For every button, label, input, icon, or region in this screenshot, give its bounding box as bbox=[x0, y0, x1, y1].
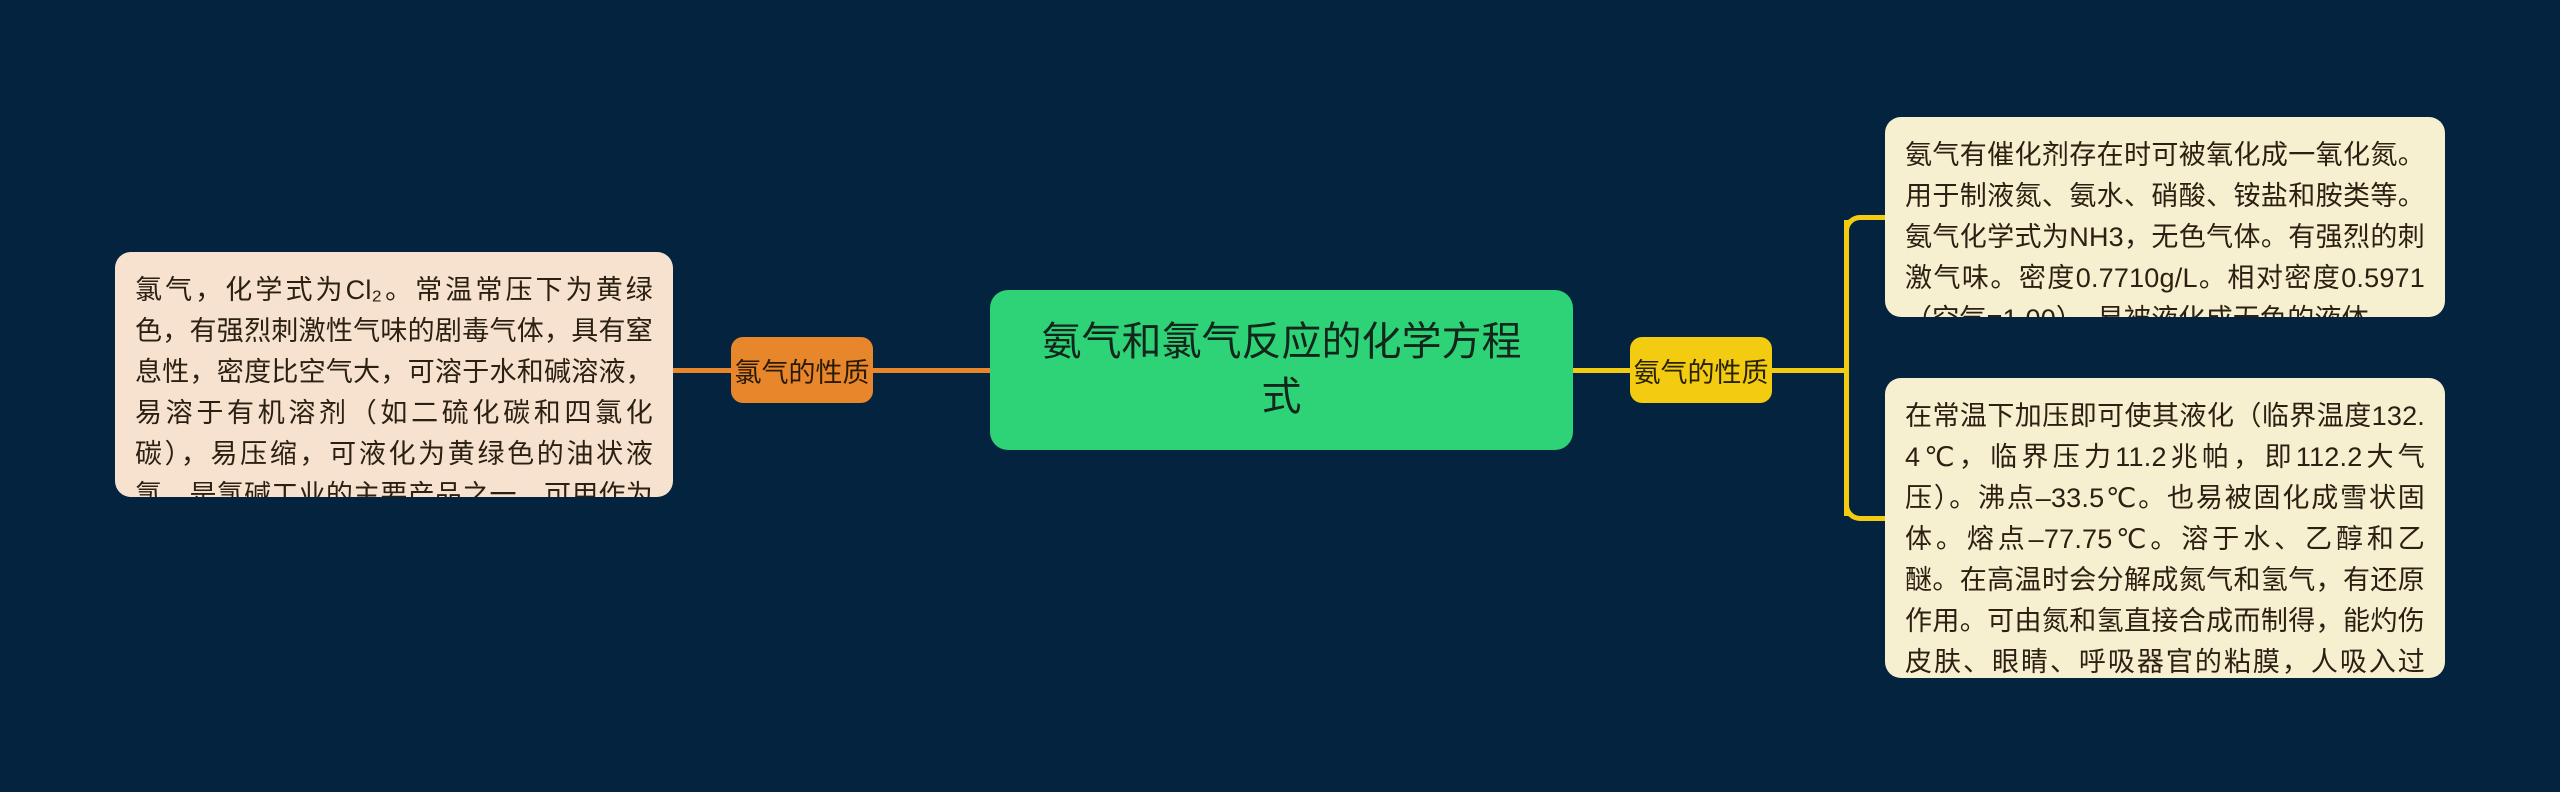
leaf-card-ammonia-physical: 在常温下加压即可使其液化（临界温度132.4℃，临界压力11.2兆帕，即112.… bbox=[1885, 378, 2445, 678]
connector-chlorine-leaf bbox=[673, 368, 731, 373]
branch-node-chlorine[interactable]: 氯气的性质 bbox=[731, 337, 873, 403]
root-node[interactable]: 氨气和氯气反应的化学方程式 bbox=[990, 290, 1573, 450]
connector-ammonia-trunk bbox=[1772, 368, 1844, 373]
branch-node-ammonia-label: 氨气的性质 bbox=[1634, 351, 1769, 390]
branch-node-ammonia[interactable]: 氨气的性质 bbox=[1630, 337, 1772, 403]
connector-ammonia-branch-trunk bbox=[1844, 215, 1886, 521]
leaf-card-ammonia-uses: 氨气有催化剂存在时可被氧化成一氧化氮。用于制液氮、氨水、硝酸、铵盐和胺类等。氨气… bbox=[1885, 117, 2445, 317]
root-node-label: 氨气和氯气反应的化学方程式 bbox=[990, 315, 1573, 425]
leaf-card-chlorine-properties: 氯气，化学式为Cl₂。常温常压下为黄绿色，有强烈刺激性气味的剧毒气体，具有窒息性… bbox=[115, 252, 673, 497]
connector-chlorine-root bbox=[873, 368, 990, 373]
connector-root-ammonia bbox=[1573, 368, 1630, 373]
branch-node-chlorine-label: 氯气的性质 bbox=[735, 351, 870, 390]
mindmap-canvas: 氯气，化学式为Cl₂。常温常压下为黄绿色，有强烈刺激性气味的剧毒气体，具有窒息性… bbox=[0, 0, 2560, 792]
